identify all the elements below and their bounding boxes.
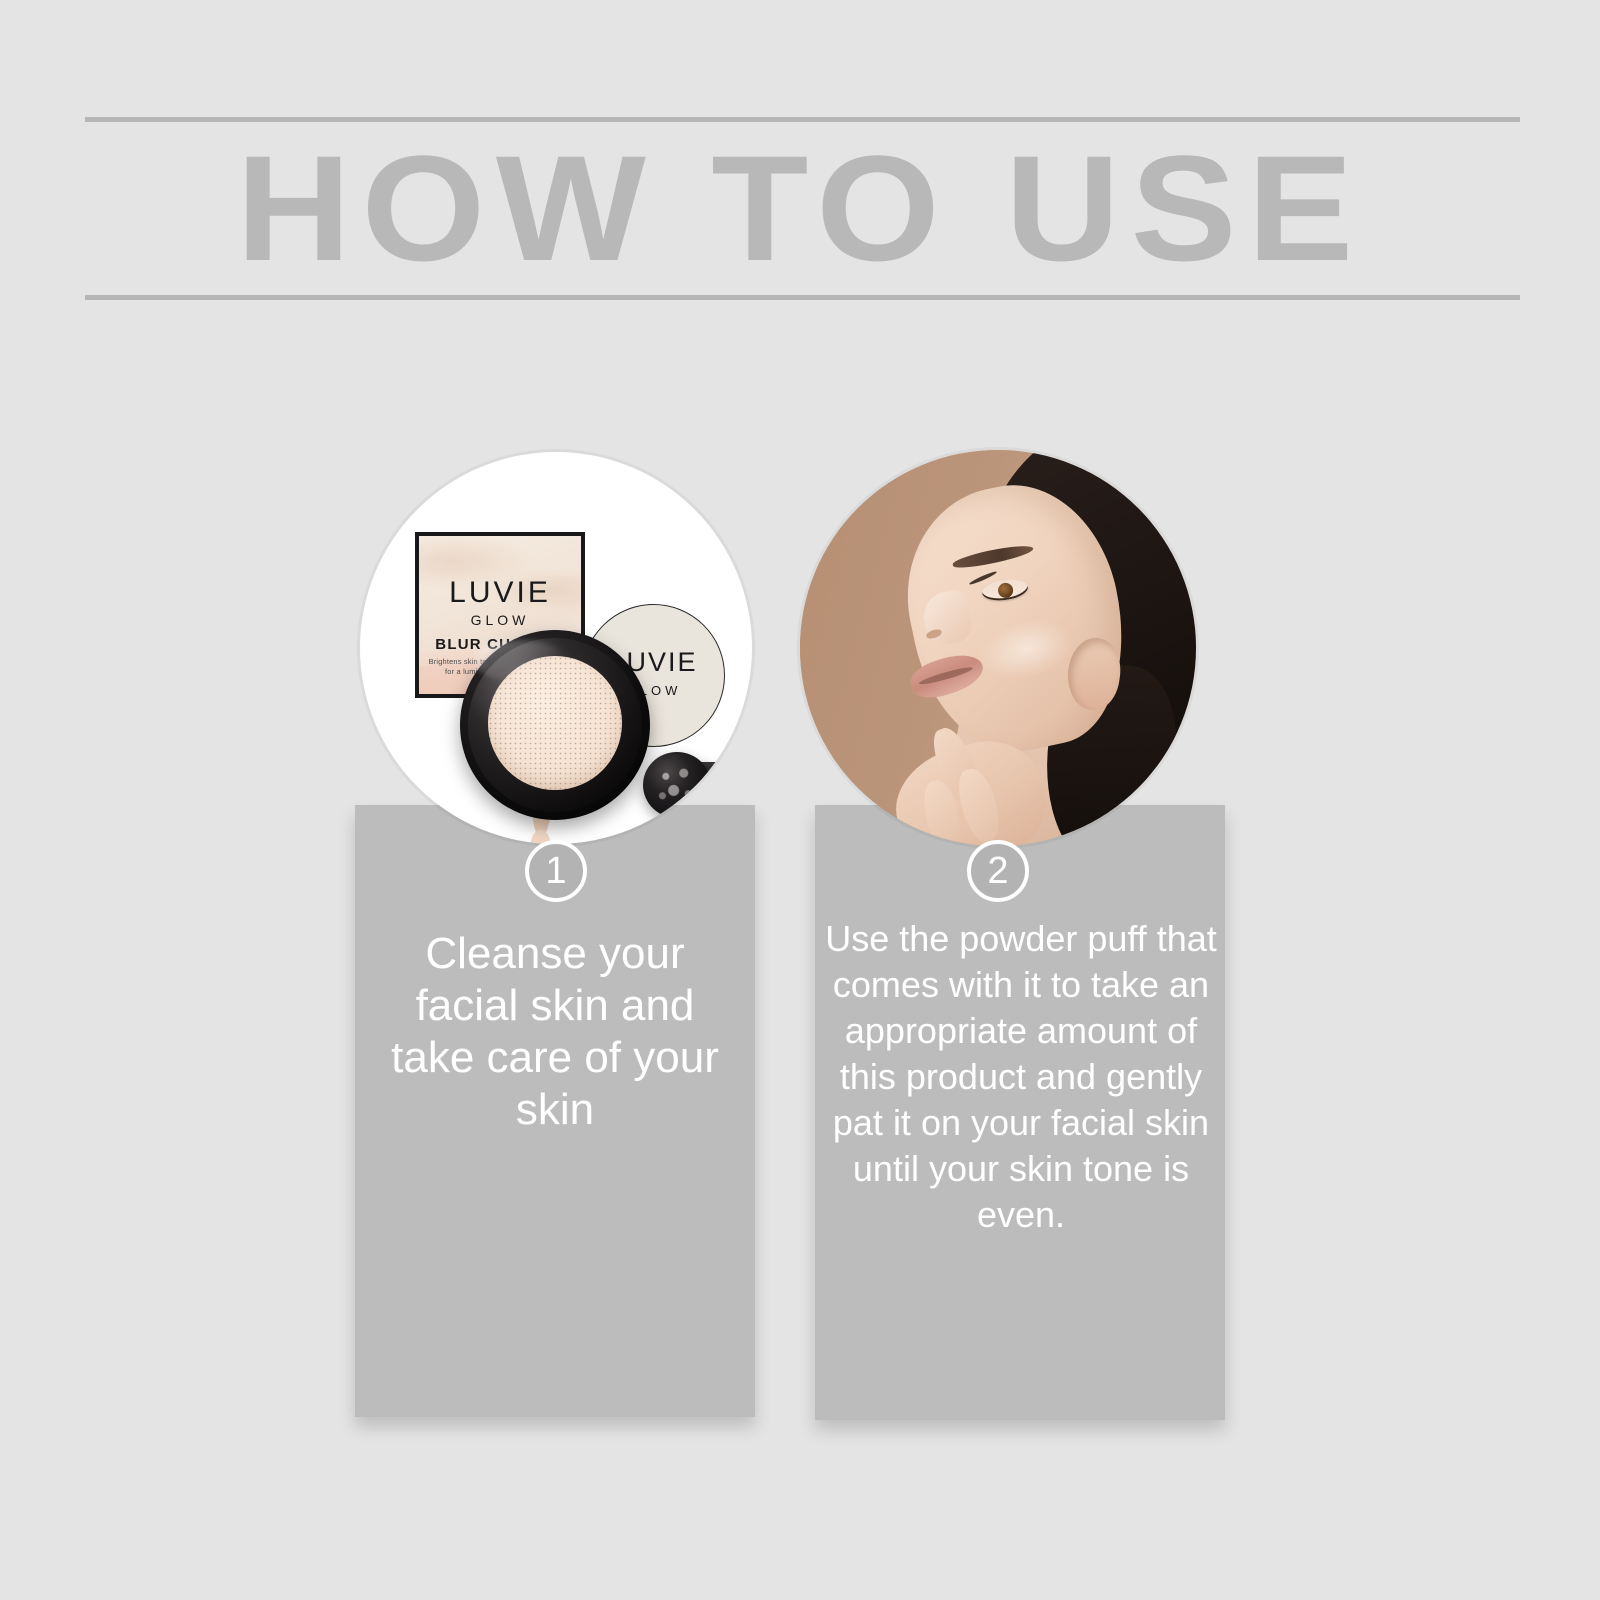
how-to-use-infographic: HOW TO USE LUVIE GLOW LUVIE GLOW BLUR CU… [0,0,1600,1600]
puff-lace-pattern [649,758,705,812]
powder-puff [643,752,711,818]
step-1-image-circle: LUVIE GLOW LUVIE GLOW BLUR CUSHION Brigh… [360,452,752,844]
title-rule-top [85,117,1520,122]
step-2-caption: Use the powder puff that comes with it t… [825,916,1217,1238]
cushion-compact-case [460,630,650,820]
step-1-number-badge: 1 [525,840,587,902]
package-brand-sub: GLOW [419,612,581,628]
page-title: HOW TO USE [0,128,1600,288]
product-scene: LUVIE GLOW LUVIE GLOW BLUR CUSHION Brigh… [360,452,752,844]
step-1-caption: Cleanse your facial skin and take care o… [375,928,735,1136]
step-2-number-badge: 2 [967,840,1029,902]
model-photo [800,450,1196,846]
title-rule-bottom [85,295,1520,300]
package-brand: LUVIE [419,576,581,610]
step-2-image-circle [800,450,1196,846]
compact-gloss-highlight [474,640,566,682]
